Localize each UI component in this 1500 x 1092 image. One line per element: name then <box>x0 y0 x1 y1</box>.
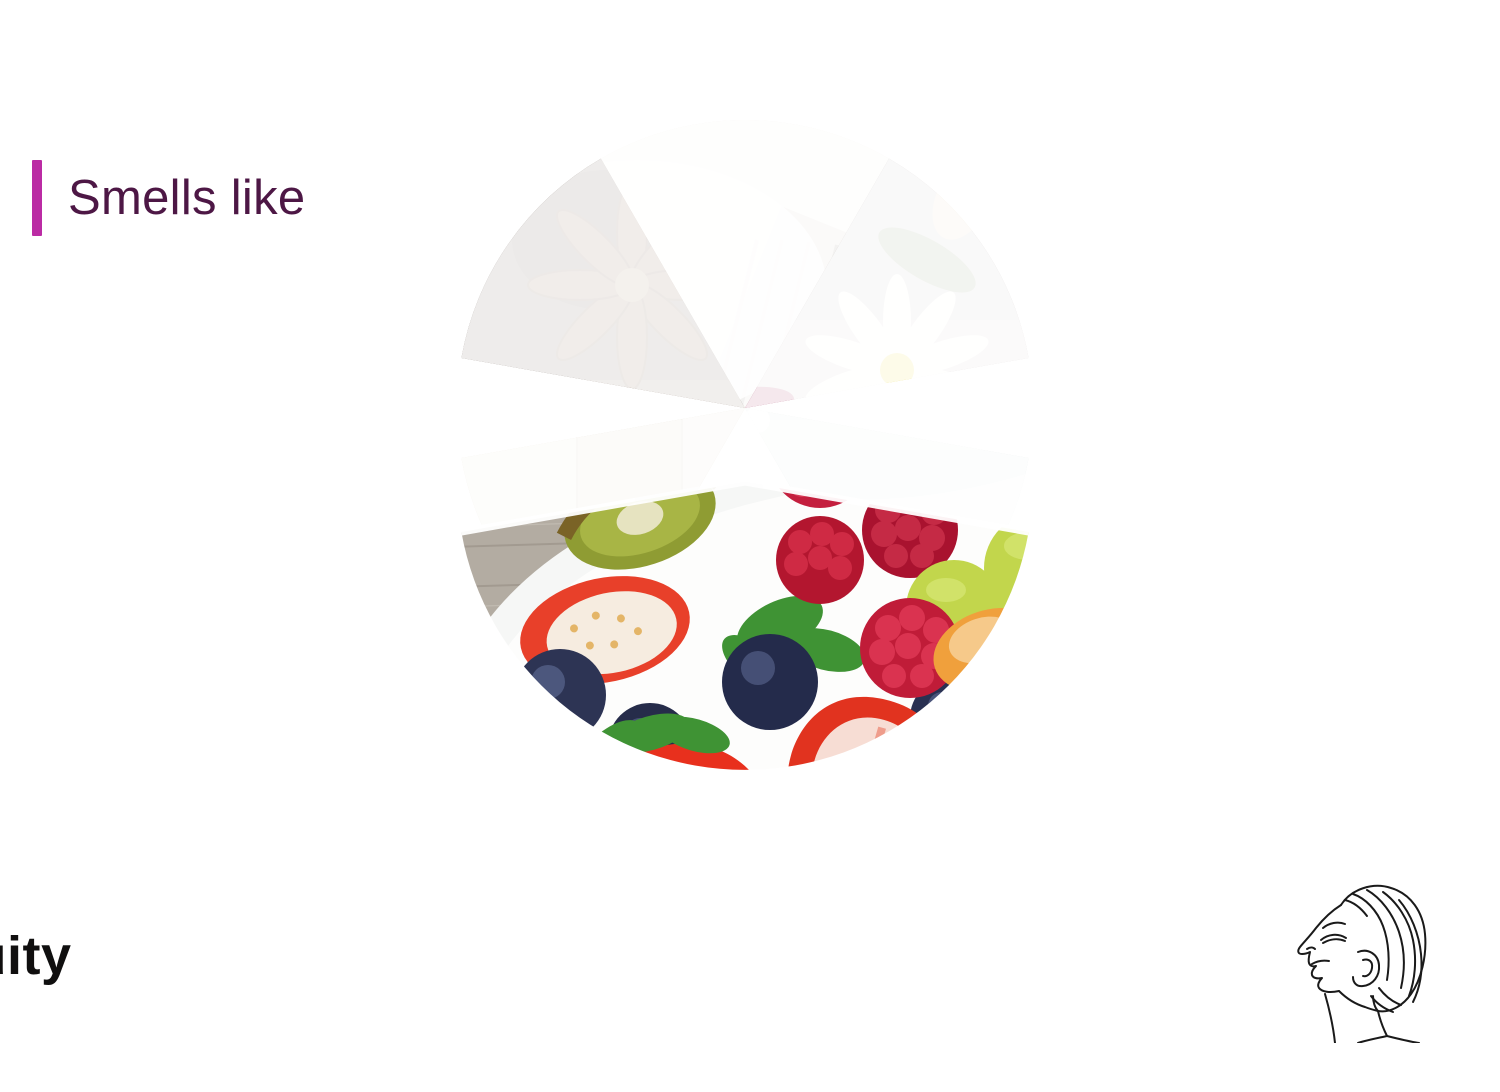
infographic-stage: Smells like <box>0 0 1500 1092</box>
pie-chart-svg <box>0 0 1500 1092</box>
sniffing-face-icon <box>1283 868 1443 1043</box>
pie-chart: Fruity <box>0 0 1500 1092</box>
pie-slice-fruity[interactable] <box>461 482 1028 770</box>
